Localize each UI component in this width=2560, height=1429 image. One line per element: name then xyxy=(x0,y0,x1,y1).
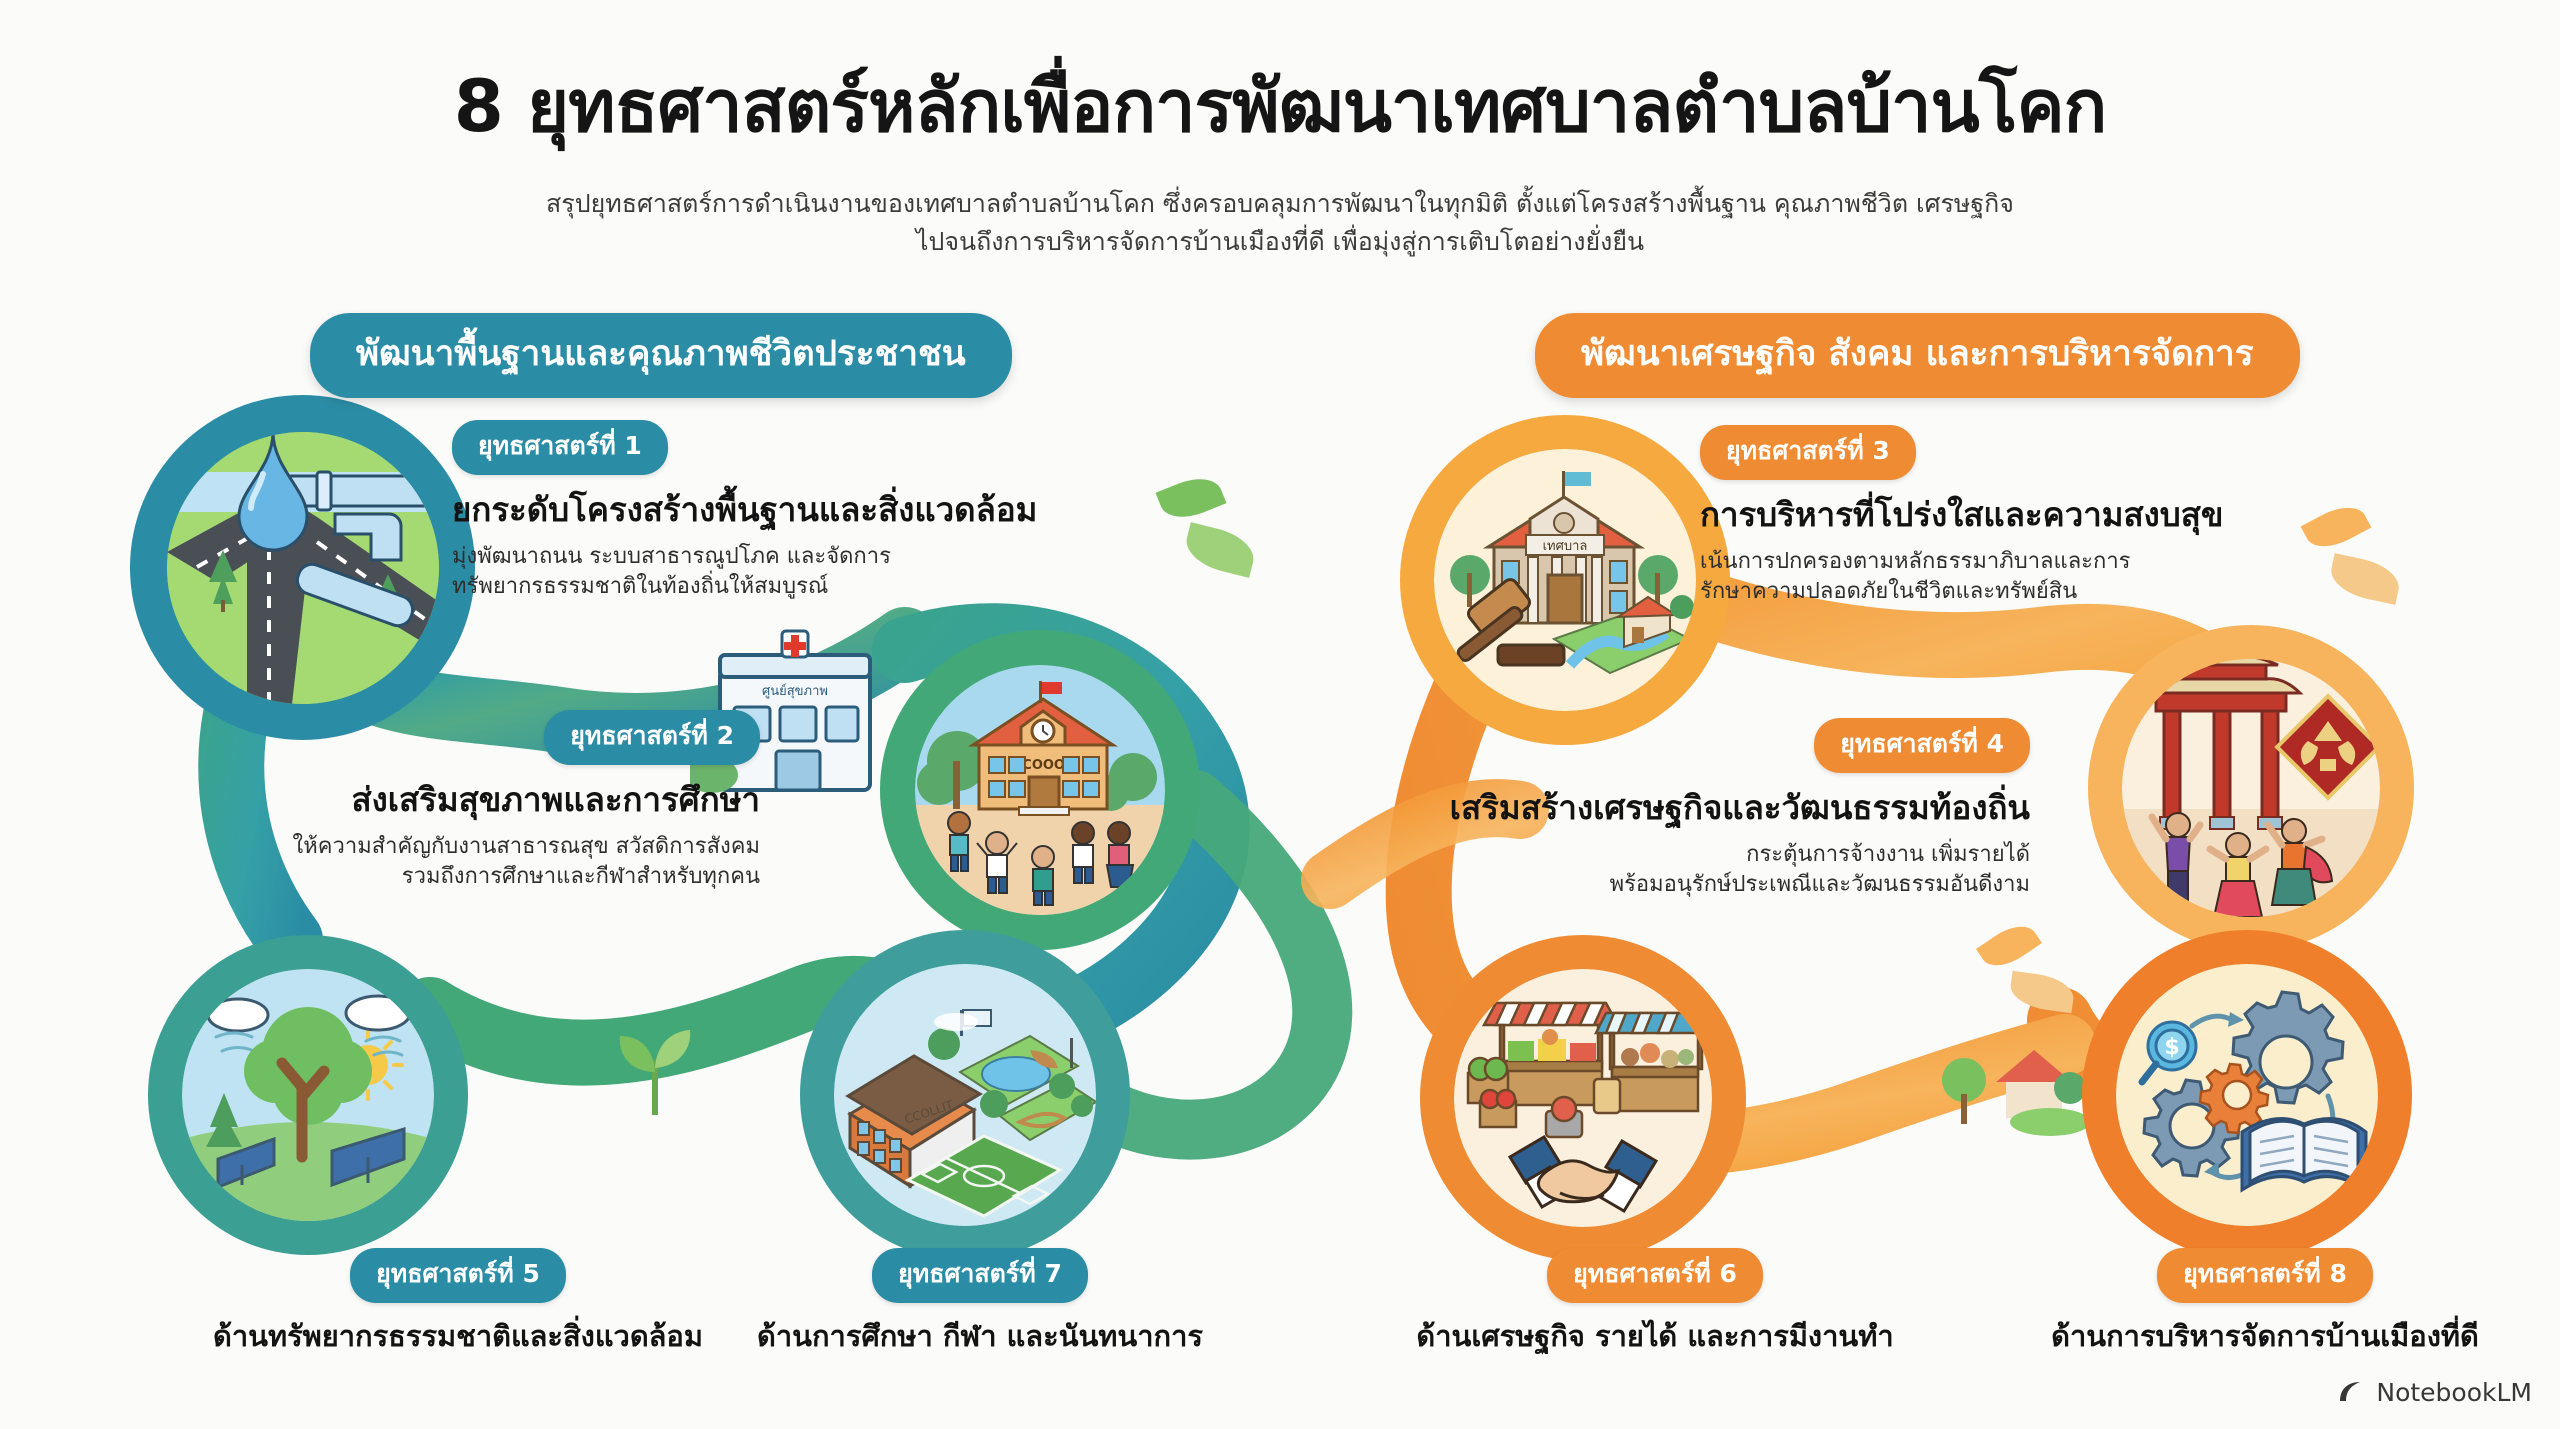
strategy-6-block: ยุทธศาสตร์ที่ 6 ด้านเศรษฐกิจ รายได้ และก… xyxy=(1365,1248,1945,1359)
notebooklm-logo-icon xyxy=(2336,1377,2366,1407)
dollar-glyph: $ xyxy=(2164,1035,2179,1060)
strategy-2-desc-line-1: ให้ความสำคัญกับงานสาธารณสุข สวัสดิการสัง… xyxy=(293,832,760,862)
strategy-4-illustration xyxy=(2088,625,2414,951)
strategy-1-desc-line-1: มุ่งพัฒนาถนน ระบบสาธารณูปโภค และจัดการ xyxy=(452,542,891,572)
house-tree-decoration xyxy=(1930,1010,2090,1140)
strategy-6-caption: ด้านเศรษฐกิจ รายได้ และการมีงานทำ xyxy=(1416,1313,1893,1359)
strategy-6-illustration xyxy=(1420,935,1746,1261)
strategy-2-number-pill: ยุทธศาสตร์ที่ 2 xyxy=(544,710,760,765)
strategy-1-desc-line-2: ทรัพยากรธรรมชาติในท้องถิ่นให้สมบูรณ์ xyxy=(452,572,828,602)
strategy-5-block: ยุทธศาสตร์ที่ 5 ด้านทรัพยากรธรรมชาติและส… xyxy=(118,1248,798,1359)
school-children-scene: CCOOOL xyxy=(915,665,1165,915)
strategy-8-number-pill: ยุทธศาสตร์ที่ 8 xyxy=(2157,1248,2373,1303)
strategy-3-desc-line-2: รักษาความปลอดภัยในชีวิตและทรัพย์สิน xyxy=(1700,577,2077,607)
strategy-2-illustration: CCOOOL xyxy=(880,630,1200,950)
tree-solar-sun-scene xyxy=(182,969,434,1221)
market-handshake-scene xyxy=(1454,969,1712,1227)
cityhall-gavel-scene: เทศบาล xyxy=(1434,449,1696,711)
strategy-7-caption: ด้านการศึกษา กีฬา และนันทนาการ xyxy=(757,1313,1203,1359)
strategy-3-desc-line-1: เน้นการปกครองตามหลักธรรมาภิบาลและการ xyxy=(1700,547,2131,577)
notebooklm-watermark: NotebookLM xyxy=(2336,1377,2532,1407)
strategy-1-number-pill: ยุทธศาสตร์ที่ 1 xyxy=(452,420,668,475)
strategy-1-block: ยุทธศาสตร์ที่ 1 ยกระดับโครงสร้างพื้นฐานแ… xyxy=(452,420,1037,601)
strategy-1-illustration xyxy=(130,395,475,740)
gears-book-scene: $ xyxy=(2116,964,2378,1226)
cityhall-sign-label: เทศบาล xyxy=(1543,539,1588,554)
section-header-right: พัฒนาเศรษฐกิจ สังคม และการบริหารจัดการ xyxy=(1535,313,2300,398)
strategy-5-caption: ด้านทรัพยากรธรรมชาติและสิ่งแวดล้อม xyxy=(213,1313,703,1359)
strategy-7-block: ยุทธศาสตร์ที่ 7 ด้านการศึกษา กีฬา และนัน… xyxy=(700,1248,1260,1359)
section-header-left: พัฒนาพื้นฐานและคุณภาพชีวิตประชาชน xyxy=(310,313,1012,398)
strategy-1-title: ยกระดับโครงสร้างพื้นฐานและสิ่งแวดล้อม xyxy=(452,483,1037,536)
sportfield-park-scene: CCOLLIT xyxy=(834,964,1096,1226)
clinic-sign-label: ศูนย์สุขภาพ xyxy=(762,683,828,699)
strategy-5-illustration xyxy=(148,935,468,1255)
strategy-4-number-pill: ยุทธศาสตร์ที่ 4 xyxy=(1814,718,2030,773)
strategy-6-number-pill: ยุทธศาสตร์ที่ 6 xyxy=(1547,1248,1763,1303)
strategy-3-block: ยุทธศาสตร์ที่ 3 การบริหารที่โปร่งใสและคว… xyxy=(1700,425,2223,606)
strategy-3-illustration: เทศบาล xyxy=(1400,415,1730,745)
sprout-decoration xyxy=(600,1010,710,1120)
strategy-2-block: ยุทธศาสตร์ที่ 2 ส่งเสริมสุขภาพและการศึกษ… xyxy=(200,710,760,891)
strategy-8-block: ยุทธศาสตร์ที่ 8 ด้านการบริหารจัดการบ้านเ… xyxy=(1975,1248,2555,1359)
watermark-label: NotebookLM xyxy=(2376,1378,2532,1407)
strategy-4-desc-line-2: พร้อมอนุรักษ์ประเพณีและวัฒนธรรมอันดีงาม xyxy=(1610,870,2030,900)
strategy-2-title: ส่งเสริมสุขภาพและการศึกษา xyxy=(351,773,760,826)
strategy-7-number-pill: ยุทธศาสตร์ที่ 7 xyxy=(872,1248,1088,1303)
strategy-4-block: ยุทธศาสตร์ที่ 4 เสริมสร้างเศรษฐกิจและวัฒ… xyxy=(1340,718,2030,899)
strategy-5-number-pill: ยุทธศาสตร์ที่ 5 xyxy=(350,1248,566,1303)
strategy-4-title: เสริมสร้างเศรษฐกิจและวัฒนธรรมท้องถิ่น xyxy=(1450,781,2030,834)
infographic-canvas: 8 ยุทธศาสตร์หลักเพื่อการพัฒนาเทศบาลตำบลบ… xyxy=(0,0,2560,1429)
strategy-3-number-pill: ยุทธศาสตร์ที่ 3 xyxy=(1700,425,1916,480)
road-pipe-waterdrop-scene xyxy=(167,432,439,704)
strategy-4-desc-line-1: กระตุ้นการจ้างงาน เพิ่มรายได้ xyxy=(1746,840,2030,870)
strategy-8-illustration: $ xyxy=(2082,930,2412,1260)
strategy-8-caption: ด้านการบริหารจัดการบ้านเมืองที่ดี xyxy=(2051,1313,2479,1359)
strategy-3-title: การบริหารที่โปร่งใสและความสงบสุข xyxy=(1700,488,2223,541)
strategy-7-illustration: CCOLLIT xyxy=(800,930,1130,1260)
traditional-dancers-scene xyxy=(2122,659,2380,917)
strategy-2-desc-line-2: รวมถึงการศึกษาและกีฬาสำหรับทุกคน xyxy=(402,862,760,892)
